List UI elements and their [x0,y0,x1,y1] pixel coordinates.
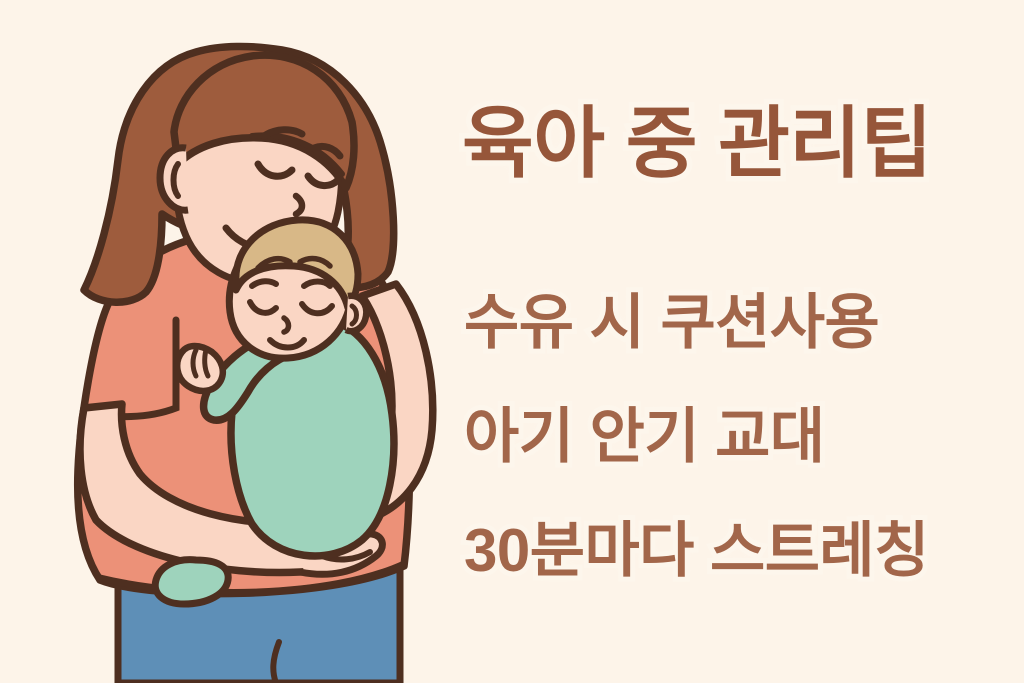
page-title: 육아 중 관리팁 [462,104,932,182]
tip-line-2: 아기 안기 교대 [464,407,825,467]
baby-hand [177,346,223,391]
tip-line-3: 30분마다 스트레칭 [464,521,929,581]
infographic-card: 육아 중 관리팁 수유 시 쿠션사용 아기 안기 교대 30분마다 스트레칭 [0,0,1024,683]
illustration-svg [0,0,460,683]
mother-holding-baby-illustration [0,0,460,683]
baby-foot [155,560,228,604]
text-column: 육아 중 관리팁 수유 시 쿠션사용 아기 안기 교대 30분마다 스트레칭 [458,0,1024,683]
tip-line-1: 수유 시 쿠션사용 [464,293,879,353]
